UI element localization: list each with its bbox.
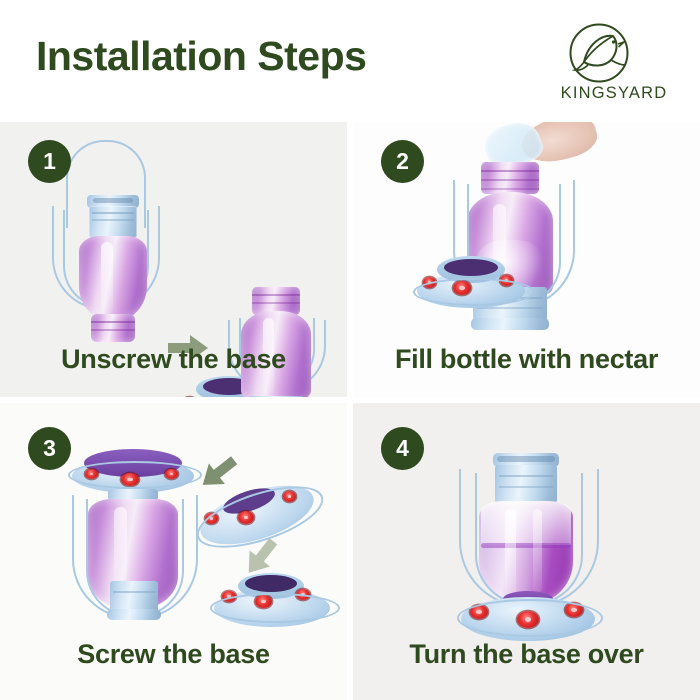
page-header: Installation Steps KINGSYARD (0, 0, 700, 122)
base-wire-ring (413, 278, 535, 306)
step-caption: Screw the base (0, 639, 347, 670)
step-number-badge: 4 (381, 427, 424, 470)
steps-grid: 1 Unscrew the base (0, 122, 700, 700)
cap-vent-slots (497, 456, 555, 462)
thread-line (91, 329, 135, 331)
thread-line (252, 302, 300, 304)
step-panel-2: 2 Fill bottle with nectar (353, 122, 700, 397)
step-panel-4: 4 Turn the base over (353, 403, 700, 700)
metal-cap-base (471, 318, 549, 330)
collar-ridge (477, 307, 543, 309)
cap-vent-slots (93, 198, 133, 203)
collar-ridge (92, 219, 134, 221)
page-title: Installation Steps (36, 34, 366, 79)
step-caption: Unscrew the base (0, 344, 347, 375)
step-panel-1: 1 Unscrew the base (0, 122, 347, 397)
installation-steps-infographic: Installation Steps KINGSYARD (0, 0, 700, 700)
metal-cap-base (107, 609, 161, 620)
step-number-badge: 3 (28, 427, 71, 470)
wire-side-guard-inner (475, 473, 583, 605)
base-wire-ring (68, 461, 202, 489)
glass-highlight (101, 242, 113, 314)
step-caption: Fill bottle with nectar (353, 344, 700, 375)
base-wire-ring (457, 599, 603, 637)
step-caption: Turn the base over (353, 639, 700, 670)
collar-ridge (113, 591, 155, 593)
step-number-badge: 1 (28, 140, 71, 183)
metal-collar (89, 206, 137, 238)
nectar-reservoir (245, 575, 297, 592)
thread-line (252, 294, 300, 296)
base-wire-ring (210, 593, 340, 623)
process-arrow-icon (195, 450, 246, 499)
thread-line (91, 321, 135, 323)
collar-ridge (92, 212, 134, 214)
brand-logo: KINGSYARD (540, 22, 688, 110)
step-number-badge: 2 (381, 140, 424, 183)
step-panel-3: 3 Screw the base (0, 403, 347, 700)
metal-collar (248, 396, 304, 397)
brand-name: KINGSYARD (540, 84, 688, 103)
glass-bottle-body (79, 236, 147, 322)
bird-in-circle-icon (568, 22, 630, 84)
glass-threaded-neck (91, 314, 135, 342)
thread-line (481, 170, 539, 172)
nectar-reservoir (444, 259, 498, 276)
